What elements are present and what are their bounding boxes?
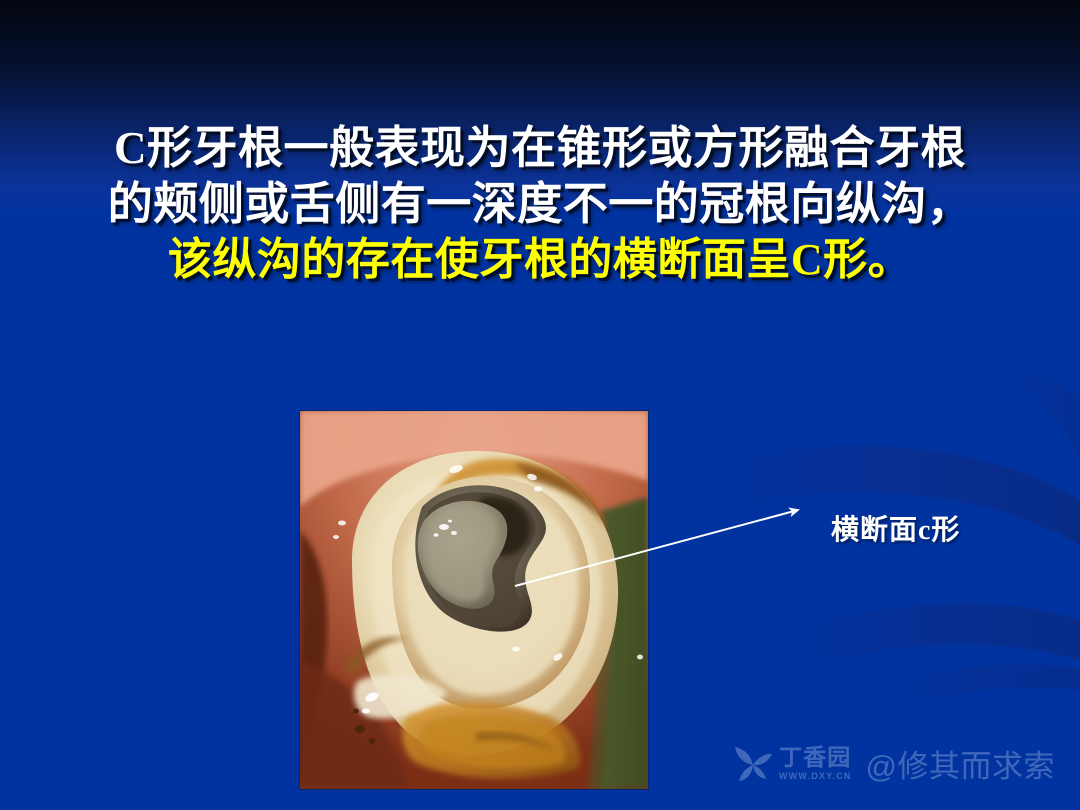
clinical-photo	[300, 411, 648, 789]
headline-line-3: 该纵沟的存在使牙根的横断面呈C形。	[0, 238, 1080, 282]
headline-line-2: 的颊侧或舌侧有一深度不一的冠根向纵沟，	[0, 182, 1080, 227]
headline-line-1: C形牙根一般表现为在锥形或方形融合牙根	[0, 126, 1080, 171]
presentation-slide: C形牙根一般表现为在锥形或方形融合牙根 的颊侧或舌侧有一深度不一的冠根向纵沟， …	[0, 0, 1080, 810]
annotation-label-cross-section: 横断面c形	[831, 508, 960, 548]
slide-headline: C形牙根一般表现为在锥形或方形融合牙根 的颊侧或舌侧有一深度不一的冠根向纵沟， …	[0, 126, 1080, 282]
